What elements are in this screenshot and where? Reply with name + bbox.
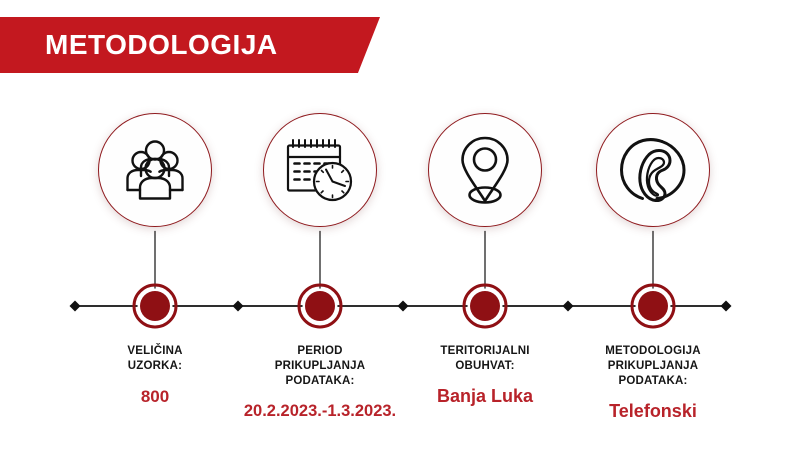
label-title-line: OBUHVAT:	[412, 359, 558, 374]
label-block-sample-size: VELIČINA UZORKA: 800	[80, 344, 230, 406]
timeline-node	[464, 285, 506, 327]
page-title: METODOLOGIJA	[45, 29, 278, 61]
label-title-line: UZORKA:	[80, 359, 230, 374]
icon-circle-data-period	[263, 113, 377, 227]
label-block-data-period: PERIOD PRIKUPLJANJA PODATAKA: 20.2.2023.…	[237, 344, 403, 421]
label-value: Banja Luka	[412, 387, 558, 406]
telephone-handset-icon	[618, 135, 688, 205]
label-title: METODOLOGIJA PRIKUPLJANJA PODATAKA:	[570, 344, 736, 389]
label-title-line: PODATAKA:	[570, 374, 736, 389]
label-value: 20.2.2023.-1.3.2023.	[237, 402, 403, 421]
map-pin-icon	[457, 135, 513, 205]
label-value: Telefonski	[570, 402, 736, 421]
label-title: PERIOD PRIKUPLJANJA PODATAKA:	[237, 344, 403, 389]
label-block-methodology: METODOLOGIJA PRIKUPLJANJA PODATAKA: Tele…	[570, 344, 736, 421]
label-title: VELIČINA UZORKA:	[80, 344, 230, 374]
title-banner: METODOLOGIJA	[0, 17, 380, 73]
label-title-line: PRIKUPLJANJA	[237, 359, 403, 374]
icon-circle-territory	[428, 113, 542, 227]
label-title-line: PRIKUPLJANJA	[570, 359, 736, 374]
label-title-line: PODATAKA:	[237, 374, 403, 389]
timeline-diamond	[233, 301, 244, 312]
timeline-diamond	[563, 301, 574, 312]
connector-lines	[155, 230, 653, 296]
label-block-territory: TERITORIJALNI OBUHVAT: Banja Luka	[412, 344, 558, 406]
timeline-node	[299, 285, 341, 327]
label-title-line: TERITORIJALNI	[412, 344, 558, 359]
label-title: TERITORIJALNI OBUHVAT:	[412, 344, 558, 374]
timeline-diamond	[721, 301, 732, 312]
label-value: 800	[80, 387, 230, 406]
calendar-clock-icon	[285, 138, 355, 202]
timeline-diamond	[398, 301, 409, 312]
timeline-node	[134, 285, 176, 327]
timeline-node	[632, 285, 674, 327]
label-title-line: VELIČINA	[80, 344, 230, 359]
icon-circle-methodology	[596, 113, 710, 227]
label-title-line: METODOLOGIJA	[570, 344, 736, 359]
icon-circle-sample-size	[98, 113, 212, 227]
people-group-icon	[122, 139, 188, 201]
label-title-line: PERIOD	[237, 344, 403, 359]
timeline-diamond	[70, 301, 81, 312]
